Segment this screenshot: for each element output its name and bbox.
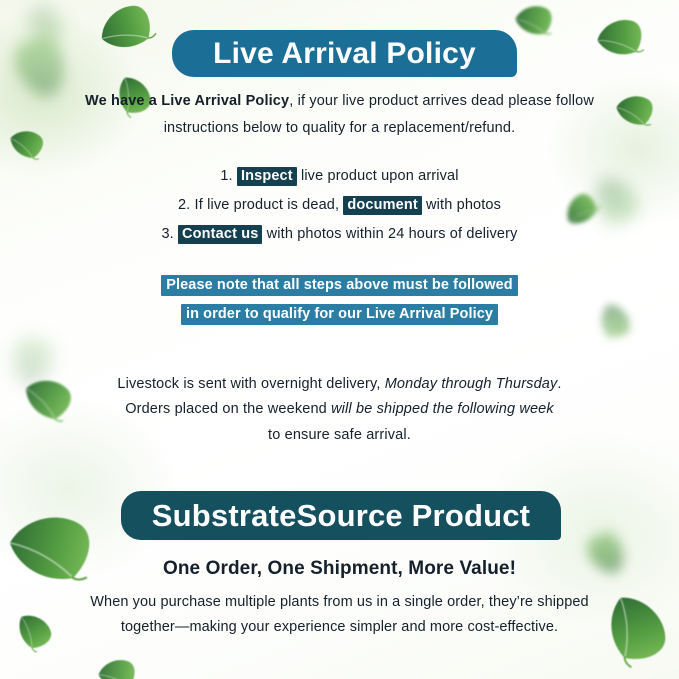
shipping-line-2-plain: Orders placed on the weekend <box>125 401 331 417</box>
leaf-top-right-b-icon <box>583 0 659 73</box>
intro-bold-phrase: We have a Live Arrival Policy <box>85 93 289 109</box>
leaf-left-upper-mid-icon <box>16 362 85 431</box>
step-item-2: 2. If live product is dead, document wit… <box>0 197 679 213</box>
shipping-line-2: Orders placed on the weekend will be shi… <box>0 401 679 417</box>
shipping-line-1-end: . <box>557 376 561 392</box>
step-3-after: with photos within 24 hours of delivery <box>262 226 517 242</box>
step-item-3: 3. Contact us with photos within 24 hour… <box>0 226 679 242</box>
substrate-closer-line-2: together—making your experience simpler … <box>0 619 679 635</box>
intro-line-1: We have a Live Arrival Policy, if your l… <box>0 93 679 109</box>
step-1-after: live product upon arrival <box>297 168 459 184</box>
shipping-line-1-plain: Livestock is sent with overnight deliver… <box>117 376 384 392</box>
intro-rest-phrase: , if your live product arrives dead plea… <box>289 93 594 109</box>
leaf-left-large-icon <box>0 477 119 609</box>
step-1-highlight: Inspect <box>237 167 297 186</box>
substrate-closer-line-1: When you purchase multiple plants from u… <box>0 594 679 610</box>
shipping-line-2-italic: will be shipped the following week <box>331 401 554 417</box>
step-item-1: 1. Inspect live product upon arrival <box>0 168 679 184</box>
live-arrival-policy-title: Live Arrival Policy <box>213 37 476 71</box>
substrate-tagline: One Order, One Shipment, More Value! <box>0 558 679 580</box>
shipping-line-1: Livestock is sent with overnight deliver… <box>0 376 679 392</box>
step-3-highlight: Contact us <box>178 225 262 244</box>
step-1-number: 1. <box>220 168 232 184</box>
policy-note-line-1: Please note that all steps above must be… <box>0 277 679 293</box>
promo-page: Live Arrival Policy We have a Live Arriv… <box>0 0 679 679</box>
step-2-highlight: document <box>343 196 421 215</box>
step-3-number: 3. <box>161 226 173 242</box>
step-2-number: 2. <box>178 197 190 213</box>
shipping-line-3: to ensure safe arrival. <box>0 427 679 443</box>
substratesource-product-banner: SubstrateSource Product <box>121 491 561 540</box>
leaf-top-center-icon <box>84 0 168 67</box>
policy-note-highlight-2: in order to qualify for our Live Arrival… <box>181 304 498 325</box>
substratesource-product-title: SubstrateSource Product <box>152 498 530 534</box>
shipping-line-1-italic: Monday through Thursday <box>385 376 558 392</box>
step-2-before: If live product is dead, <box>190 197 343 213</box>
policy-note-line-2: in order to qualify for our Live Arrival… <box>0 306 679 322</box>
live-arrival-policy-banner: Live Arrival Policy <box>172 30 517 77</box>
step-2-after: with photos <box>422 197 501 213</box>
intro-line-2: instructions below to quality for a repl… <box>0 120 679 136</box>
leaf-bottom-center-icon <box>87 641 149 679</box>
leaf-top-far-left-icon <box>13 0 81 59</box>
policy-note-highlight-1: Please note that all steps above must be… <box>161 275 518 296</box>
